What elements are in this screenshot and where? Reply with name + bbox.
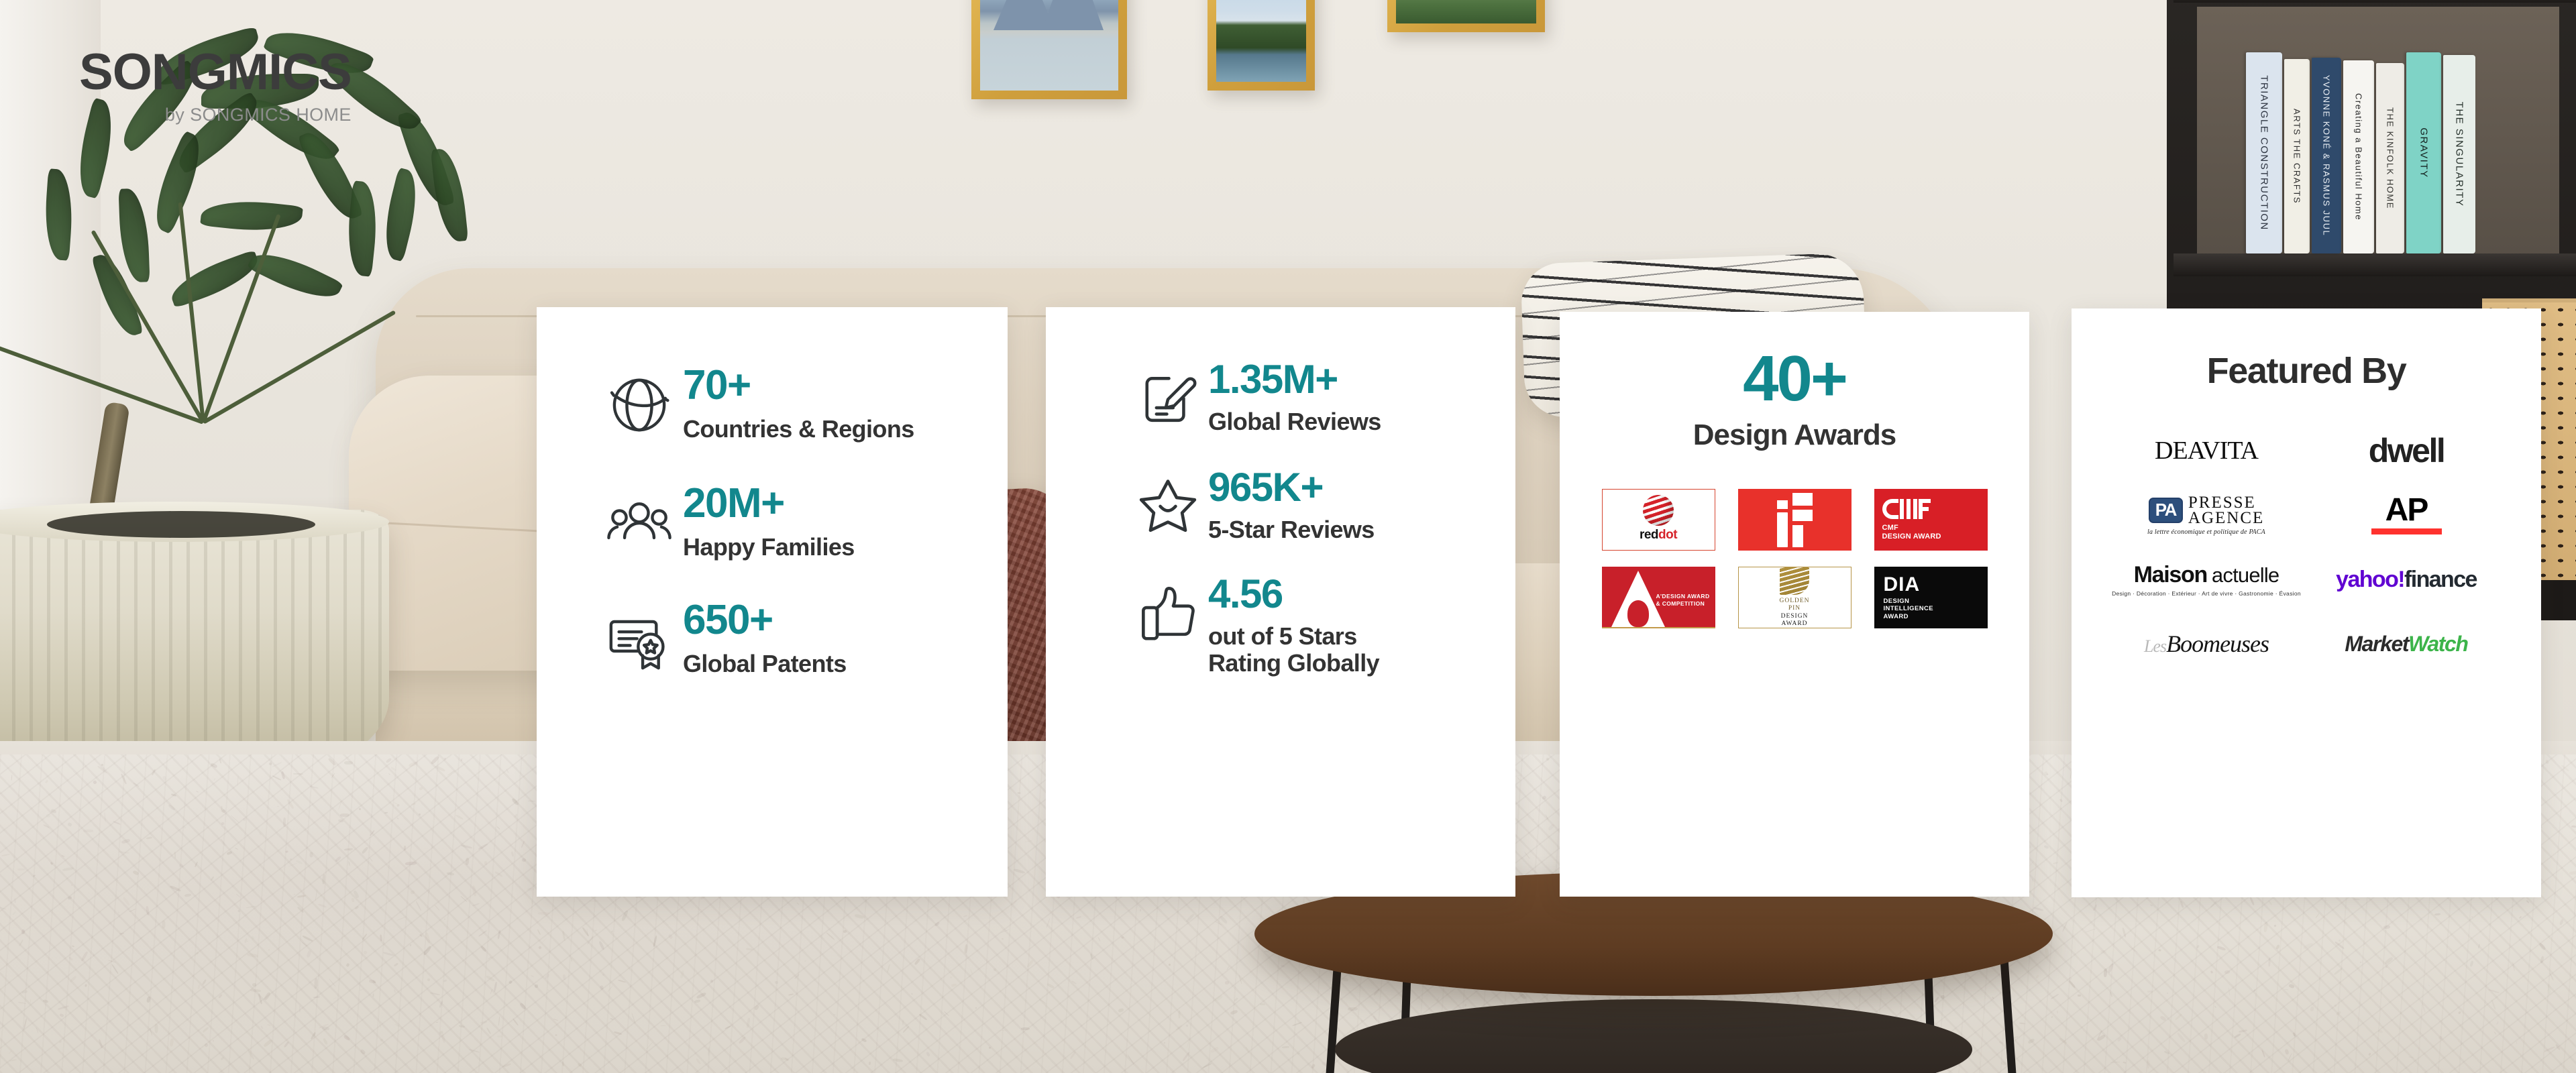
frame-photo-beach <box>980 0 1118 91</box>
book-spine: THE KINFOLK HOME <box>2376 63 2404 253</box>
awards-title: Design Awards <box>1585 419 2004 451</box>
adesign-line1: A'DESIGN AWARD <box>1656 593 1709 600</box>
marketwatch-wordmark: MarketWatch <box>2345 632 2467 657</box>
rug-speck <box>1225 981 1229 984</box>
dia-sub-line3: AWARD <box>1884 613 1933 621</box>
marketwatch-watch: Watch <box>2408 632 2467 656</box>
stat-text-five-star: 965K+ 5-Star Reviews <box>1208 467 1375 543</box>
stat-label: Countries & Regions <box>683 416 914 443</box>
stat-row-five-star: 965K+ 5-Star Reviews <box>1128 467 1515 545</box>
book-title: THE SINGULARITY <box>2454 55 2465 253</box>
cmf-sub-line2: DESIGN AWARD <box>1882 532 1941 541</box>
rug-speck <box>2569 870 2576 875</box>
rug-speck <box>527 888 534 891</box>
thumbs-up-icon <box>1128 574 1208 651</box>
adesign-a-counter <box>1627 600 1649 627</box>
book-title: ARTS THE CRAFTS <box>2292 59 2302 253</box>
stat-row-global-reviews: 1.35M+ Global Reviews <box>1128 359 1515 437</box>
rug-speck <box>162 920 165 928</box>
star-smile-icon <box>1128 467 1208 545</box>
stat-value: 70+ <box>683 365 914 406</box>
awards-logo-grid: reddot <box>1585 489 2004 628</box>
boomeuses-wordmark: LesBoomeuses <box>2144 630 2269 658</box>
ap-red-bar <box>2371 528 2442 534</box>
maison-bold-word: Maison <box>2134 562 2207 588</box>
logo-yahoo-finance: yahoo!finance <box>2336 567 2477 593</box>
banner-stage: TRIANGLE CONSTRUCTIONARTS THE CRAFTSYVON… <box>0 0 2576 1073</box>
stat-value: 965K+ <box>1208 467 1375 508</box>
goldenpin-line3: DESIGN <box>1779 613 1809 620</box>
stat-text-global-reviews: 1.35M+ Global Reviews <box>1208 359 1381 435</box>
stat-row-countries: 70+ Countries & Regions <box>596 365 1008 445</box>
rug-speck <box>989 1047 991 1049</box>
people-icon <box>596 483 683 563</box>
ap-wordmark: AP <box>2385 496 2428 525</box>
yahoo-brand: yahoo! <box>2336 567 2404 592</box>
stat-label: Global Reviews <box>1208 408 1381 435</box>
cmf-bars-icon <box>1900 499 1917 519</box>
rug-speck <box>2158 949 2161 952</box>
stat-text-rating: 4.56 out of 5 Stars Rating Globally <box>1208 574 1379 677</box>
cmf-sub-line1: CMF <box>1882 524 1941 532</box>
logo-ap: AP <box>2371 496 2442 534</box>
rug-speck <box>154 1023 158 1033</box>
rug-speck <box>484 861 488 865</box>
book-title: THE KINFOLK HOME <box>2385 63 2396 253</box>
logo-deavita: DEAVITA <box>2155 436 2258 465</box>
dia-sub-line2: INTELLIGENCE <box>1884 605 1933 613</box>
awards-card: 40+ Design Awards reddot <box>1560 312 2029 897</box>
stat-text-countries: 70+ Countries & Regions <box>683 365 914 443</box>
rug-speck <box>869 1062 871 1065</box>
featured-by-card: Featured By DEAVITA dwell PA PRESSE AGEN… <box>2072 308 2541 897</box>
featured-by-title: Featured By <box>2106 350 2506 392</box>
stats-card: 70+ Countries & Regions 20M+ <box>537 307 1008 897</box>
book-spine: TRIANGLE CONSTRUCTION <box>2246 52 2282 253</box>
goldenpin-line4: AWARD <box>1779 620 1809 628</box>
maison-light-word: actuelle <box>2212 563 2279 587</box>
logo-dwell: dwell <box>2369 431 2445 470</box>
stat-label: Global Patents <box>683 651 847 677</box>
plant-pot <box>0 510 389 778</box>
awards-count: 40+ <box>1585 347 2004 411</box>
rug-speck <box>2100 950 2106 954</box>
yahoo-finance-wordmark: yahoo!finance <box>2336 567 2477 593</box>
award-logo-cmf: CMF DESIGN AWARD <box>1874 489 1988 551</box>
rug-speck <box>2147 1060 2149 1068</box>
book-title: TRIANGLE CONSTRUCTION <box>2259 52 2270 253</box>
rug-speck <box>975 1007 977 1009</box>
adesign-line2: & COMPETITION <box>1656 600 1709 608</box>
rug-speck <box>1021 1027 1030 1030</box>
goldenpin-line1: GOLDEN <box>1779 598 1809 605</box>
maison-lockup: Maison actuelle <box>2134 562 2279 588</box>
stat-row-rating: 4.56 out of 5 Stars Rating Globally <box>1128 574 1515 677</box>
write-note-icon <box>1128 359 1208 437</box>
stat-value: 4.56 <box>1208 574 1379 614</box>
rug-speck <box>1017 792 1020 793</box>
finance-word: finance <box>2404 567 2477 592</box>
picture-frame-right <box>1387 0 1545 32</box>
book-title: YVONNE KONÉ & RASMUS JUUL <box>2322 58 2332 253</box>
rug-speck <box>83 830 93 832</box>
rug-speck <box>1179 1011 1181 1019</box>
rug-speck <box>2044 771 2048 776</box>
stat-label: 5-Star Reviews <box>1208 516 1375 543</box>
award-logo-if <box>1738 489 1851 551</box>
reddot-wordmark: reddot <box>1640 528 1677 543</box>
presse-agence-tagline: la lettre économique et politique de PAC… <box>2147 528 2265 536</box>
goldenpin-wordmark: GOLDEN PIN DESIGN AWARD <box>1779 598 1809 628</box>
featured-logo-grid: DEAVITA dwell PA PRESSE AGENCE la lettre… <box>2106 427 2506 668</box>
rug-speck <box>179 864 183 868</box>
book-title: GRAVITY <box>2418 52 2430 253</box>
picture-frame-center <box>1207 0 1315 91</box>
presse-agence-words: PRESSE AGENCE <box>2188 495 2264 526</box>
book-spine: GRAVITY <box>2406 52 2441 253</box>
award-logo-dia: DIA DESIGN INTELLIGENCE AWARD <box>1874 567 1988 628</box>
rug-speck <box>221 822 224 825</box>
rug-speck <box>2078 995 2081 997</box>
dia-subtitle: DESIGN INTELLIGENCE AWARD <box>1884 598 1933 622</box>
rug-speck <box>46 814 50 817</box>
presse-line2: AGENCE <box>2188 510 2264 526</box>
boomeuses-les: Les <box>2144 636 2166 656</box>
award-logo-reddot: reddot <box>1602 489 1715 551</box>
dia-wordmark: DIA <box>1884 575 1921 595</box>
rug-speck <box>563 974 566 980</box>
reviews-card: 1.35M+ Global Reviews 965K+ 5-Star Revie… <box>1046 307 1515 897</box>
cmf-wordmark <box>1882 499 1931 519</box>
book-spine: YVONNE KONÉ & RASMUS JUUL <box>2312 58 2341 253</box>
stat-text-patents: 650+ Global Patents <box>683 600 847 677</box>
rug-speck <box>344 761 353 765</box>
reddot-sphere-icon <box>1643 495 1674 526</box>
bookshelf-bottom-board <box>2173 253 2576 276</box>
brand-tagline: by SONGMICS HOME <box>79 105 352 125</box>
book-spine: THE SINGULARITY <box>2443 55 2475 253</box>
frame-photo-island <box>1216 0 1306 82</box>
stat-label: out of 5 Stars Rating Globally <box>1208 623 1379 677</box>
rug-speck <box>2385 966 2387 968</box>
rug-speck <box>2204 1033 2208 1039</box>
stat-row-families: 20M+ Happy Families <box>596 483 1008 563</box>
plant-pot-soil <box>47 511 315 538</box>
stat-row-patents: 650+ Global Patents <box>596 600 1008 680</box>
rug-speck <box>538 912 549 915</box>
rug-speck <box>555 1034 557 1035</box>
presse-agence-lockup: PA PRESSE AGENCE <box>2149 495 2265 526</box>
reddot-word-red: red <box>1640 528 1658 542</box>
presse-line1: PRESSE <box>2188 495 2264 511</box>
picture-frame-left <box>971 0 1127 99</box>
brand-logo: SONGMICS by SONGMICS HOME <box>79 47 352 125</box>
rug-speck <box>309 852 313 857</box>
presse-agence-badge: PA <box>2149 498 2183 524</box>
stat-value: 20M+ <box>683 483 855 524</box>
logo-les-boomeuses: LesBoomeuses <box>2144 630 2269 658</box>
rug-speck <box>2147 991 2153 993</box>
if-letter-i <box>1777 500 1788 547</box>
goldenpin-mark-icon <box>1780 567 1809 594</box>
rug-speck <box>419 813 421 815</box>
rug-speck <box>2009 970 2012 974</box>
dia-sub-line1: DESIGN <box>1884 598 1933 606</box>
deavita-wordmark: DEAVITA <box>2155 436 2258 465</box>
logo-marketwatch: MarketWatch <box>2345 632 2467 657</box>
certificate-icon <box>596 600 683 680</box>
adesign-wordmark: A'DESIGN AWARD & COMPETITION <box>1656 593 1709 607</box>
book-spine: Creating a Beautiful Home <box>2343 60 2374 253</box>
stat-value: 650+ <box>683 600 847 641</box>
brand-name: SONGMICS <box>79 47 352 98</box>
cmf-subtitle: CMF DESIGN AWARD <box>1882 524 1941 541</box>
stat-label: Happy Families <box>683 534 855 561</box>
logo-maison-actuelle: Maison actuelle Design · Décoration · Ex… <box>2112 562 2301 597</box>
bookshelf-top-board <box>2173 0 2576 3</box>
rug-speck <box>775 981 779 984</box>
frame-photo-valley <box>1396 0 1536 23</box>
reddot-word-dot: dot <box>1658 528 1677 542</box>
book-title: Creating a Beautiful Home <box>2354 60 2364 253</box>
goldenpin-line2: PIN <box>1779 605 1809 612</box>
rug-speck <box>340 813 350 817</box>
stat-value: 1.35M+ <box>1208 359 1381 400</box>
award-logo-goldenpin: GOLDEN PIN DESIGN AWARD <box>1738 567 1851 628</box>
rug-speck <box>213 1040 214 1041</box>
dwell-wordmark: dwell <box>2369 431 2445 470</box>
globe-icon <box>596 365 683 445</box>
rug-speck <box>1260 1003 1265 1005</box>
book-spine: ARTS THE CRAFTS <box>2284 59 2310 253</box>
rug-speck <box>1941 995 1945 999</box>
boomeuses-name: Boomeuses <box>2166 630 2269 657</box>
award-logo-adesign: A'DESIGN AWARD & COMPETITION <box>1602 567 1715 628</box>
if-letter-f <box>1792 493 1813 547</box>
marketwatch-market: Market <box>2345 632 2408 656</box>
stat-text-families: 20M+ Happy Families <box>683 483 855 561</box>
logo-presse-agence: PA PRESSE AGENCE la lettre économique et… <box>2147 495 2265 536</box>
rug-speck <box>535 984 538 988</box>
maison-tagline: Design · Décoration · Extérieur · Art de… <box>2112 590 2301 597</box>
rug-speck <box>300 1006 301 1013</box>
